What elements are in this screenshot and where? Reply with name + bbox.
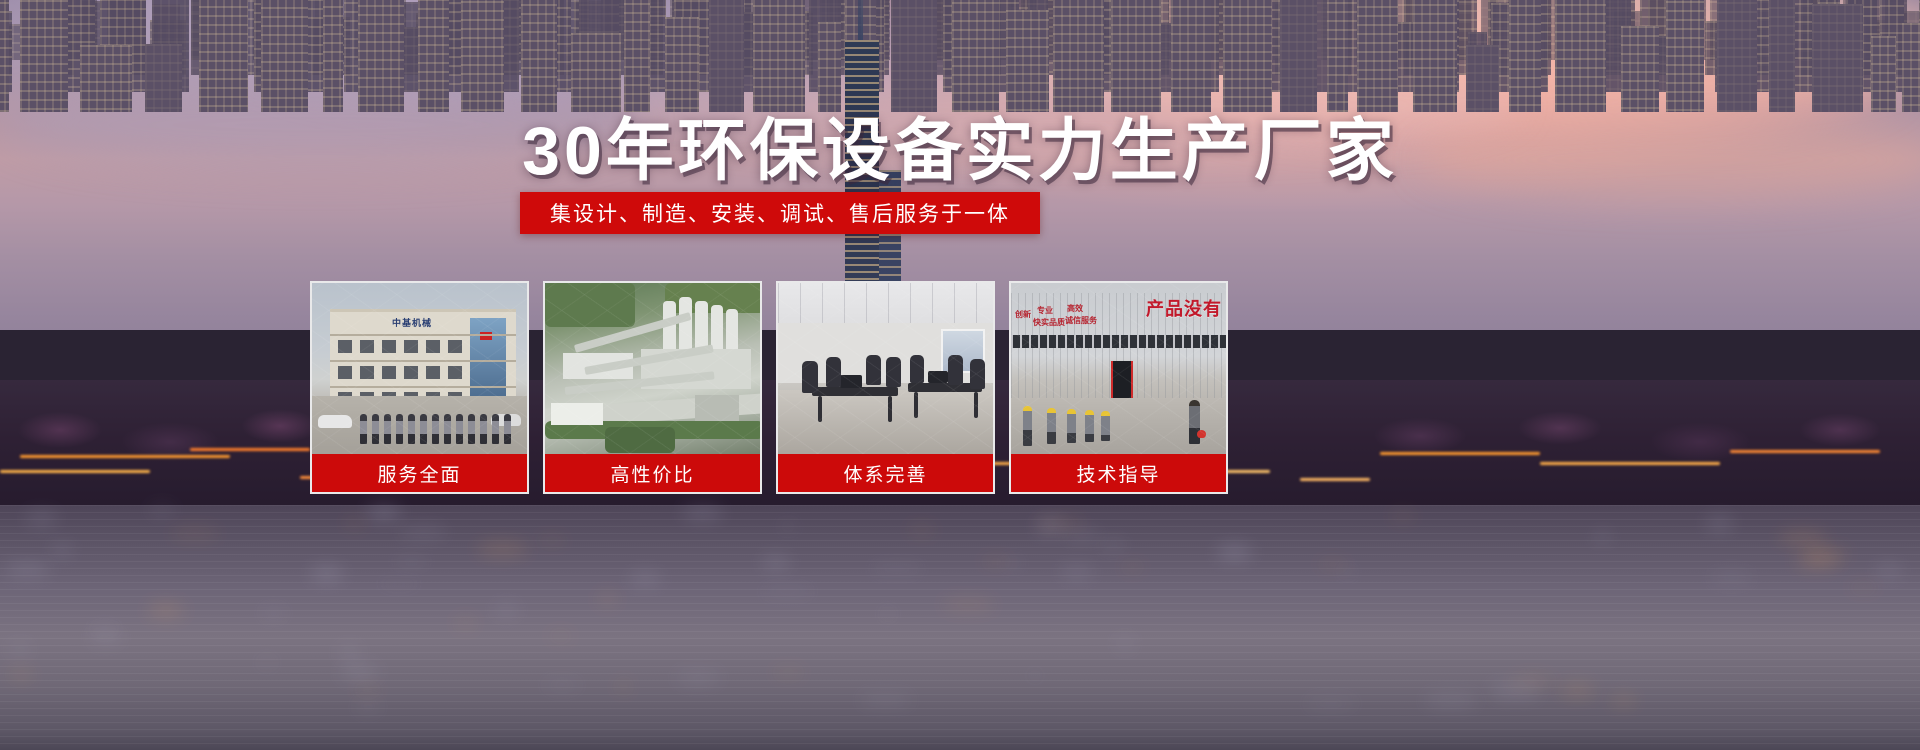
water-reflection bbox=[871, 565, 923, 572]
water-reflection bbox=[1306, 701, 1356, 705]
card-image-factory-yard: 产品没有 创新 专业 高效 快实品质 诚信服务 bbox=[1011, 283, 1226, 458]
staff-figure bbox=[408, 414, 415, 444]
hero-banner: 30年环保设备实力生产厂家 集设计、制造、安装、调试、售后服务于一体 中基机械 bbox=[0, 0, 1920, 750]
card-label: 高性价比 bbox=[610, 460, 694, 487]
water-reflection bbox=[1030, 672, 1040, 678]
staff-figure bbox=[420, 414, 427, 444]
water-reflection bbox=[495, 606, 519, 614]
water-reflection bbox=[630, 575, 661, 582]
water-reflection bbox=[5, 565, 50, 575]
water-reflection bbox=[1121, 564, 1144, 571]
water-reflection bbox=[26, 513, 57, 524]
feature-card-value[interactable]: 高性价比 bbox=[543, 281, 762, 494]
water-reflection bbox=[1006, 559, 1021, 568]
staff-figure bbox=[468, 414, 475, 444]
water-reflection bbox=[1807, 549, 1848, 558]
water-reflection bbox=[548, 634, 573, 637]
company-logo-text: 中基机械 bbox=[392, 316, 432, 329]
card-label: 体系完善 bbox=[843, 460, 927, 487]
river-water bbox=[0, 505, 1920, 750]
staff-figure bbox=[372, 414, 379, 444]
water-reflection bbox=[1119, 639, 1130, 647]
water-reflection bbox=[1706, 518, 1733, 529]
card-caption: 技术指导 bbox=[1011, 454, 1226, 492]
water-reflection bbox=[781, 523, 795, 530]
water-reflection bbox=[677, 672, 720, 684]
water-reflection bbox=[1064, 532, 1100, 537]
water-reflection bbox=[1848, 585, 1879, 590]
factory-banner-text: 产品没有 bbox=[1146, 295, 1222, 321]
water-reflection bbox=[1218, 547, 1251, 558]
water-reflection bbox=[1613, 697, 1634, 704]
staff-figure bbox=[480, 414, 487, 444]
water-reflection bbox=[1710, 573, 1753, 582]
card-caption: 服务全面 bbox=[312, 454, 527, 492]
tower-spire bbox=[858, 0, 863, 45]
water-reflection bbox=[346, 518, 362, 528]
water-reflection bbox=[943, 602, 995, 607]
shore-light bbox=[190, 448, 310, 451]
subtitle-bar: 集设计、制造、安装、调试、售后服务于一体 bbox=[520, 192, 1040, 234]
water-reflection bbox=[1876, 567, 1902, 573]
water-reflection bbox=[1103, 541, 1124, 548]
water-reflection bbox=[538, 538, 566, 543]
staff-figure bbox=[360, 414, 367, 444]
staff-figure bbox=[384, 414, 391, 444]
water-reflection bbox=[1425, 696, 1477, 705]
water-reflection bbox=[149, 605, 184, 616]
water-reflection bbox=[376, 582, 421, 587]
water-reflection bbox=[884, 611, 892, 617]
water-reflection bbox=[357, 701, 379, 712]
water-reflection bbox=[171, 529, 219, 538]
water-reflection bbox=[1318, 562, 1347, 566]
water-reflection bbox=[1491, 685, 1540, 696]
water-reflection bbox=[763, 557, 789, 568]
water-reflection bbox=[339, 649, 361, 656]
water-reflection bbox=[544, 683, 579, 687]
water-reflection bbox=[354, 688, 381, 691]
water-reflection bbox=[10, 645, 30, 654]
feature-card-service[interactable]: 中基机械 bbox=[310, 281, 529, 494]
staff-figure bbox=[456, 414, 463, 444]
water-reflection bbox=[619, 681, 628, 691]
shore-light bbox=[20, 455, 230, 458]
water-reflection bbox=[860, 697, 912, 703]
staff-figure bbox=[504, 414, 511, 444]
water-reflection bbox=[1391, 512, 1415, 520]
feature-card-system[interactable]: 体系完善 bbox=[776, 281, 995, 494]
staff-figure bbox=[444, 414, 451, 444]
shore-light bbox=[1730, 450, 1880, 453]
staff-figure bbox=[396, 414, 403, 444]
staff-figure bbox=[432, 414, 439, 444]
water-reflection bbox=[91, 633, 121, 641]
card-label: 技术指导 bbox=[1076, 460, 1160, 487]
water-reflection bbox=[908, 527, 936, 533]
water-reflection bbox=[311, 568, 343, 580]
water-reflection bbox=[10, 672, 32, 677]
card-image-office-interior bbox=[778, 283, 993, 458]
water-reflection bbox=[1036, 521, 1063, 532]
shore-light bbox=[1540, 462, 1720, 465]
card-caption: 高性价比 bbox=[545, 454, 760, 492]
water-reflection bbox=[1596, 532, 1610, 542]
water-reflection bbox=[1561, 685, 1595, 695]
water-reflection bbox=[400, 529, 446, 535]
page-title: 30年环保设备实力生产厂家 bbox=[0, 95, 1920, 194]
card-image-plant-aerial bbox=[545, 283, 760, 458]
card-caption: 体系完善 bbox=[778, 454, 993, 492]
water-reflection bbox=[368, 507, 400, 517]
water-reflection bbox=[1511, 679, 1554, 684]
card-image-office-building: 中基机械 bbox=[312, 283, 527, 458]
subtitle-text: 集设计、制造、安装、调试、售后服务于一体 bbox=[550, 198, 1010, 228]
water-reflection bbox=[1061, 568, 1093, 577]
water-reflection bbox=[258, 659, 276, 666]
water-reflection bbox=[262, 609, 285, 618]
water-reflection bbox=[149, 507, 175, 513]
water-reflection bbox=[478, 543, 527, 555]
shore-light bbox=[0, 470, 150, 473]
feature-card-guidance[interactable]: 产品没有 创新 专业 高效 快实品质 诚信服务 bbox=[1009, 281, 1228, 494]
water-reflection bbox=[53, 546, 71, 554]
water-reflection bbox=[341, 668, 377, 677]
card-label: 服务全面 bbox=[377, 460, 461, 487]
feature-card-list: 中基机械 bbox=[310, 281, 1558, 494]
water-reflection bbox=[1780, 534, 1826, 542]
water-reflection bbox=[683, 508, 723, 517]
staff-figure bbox=[492, 414, 499, 444]
